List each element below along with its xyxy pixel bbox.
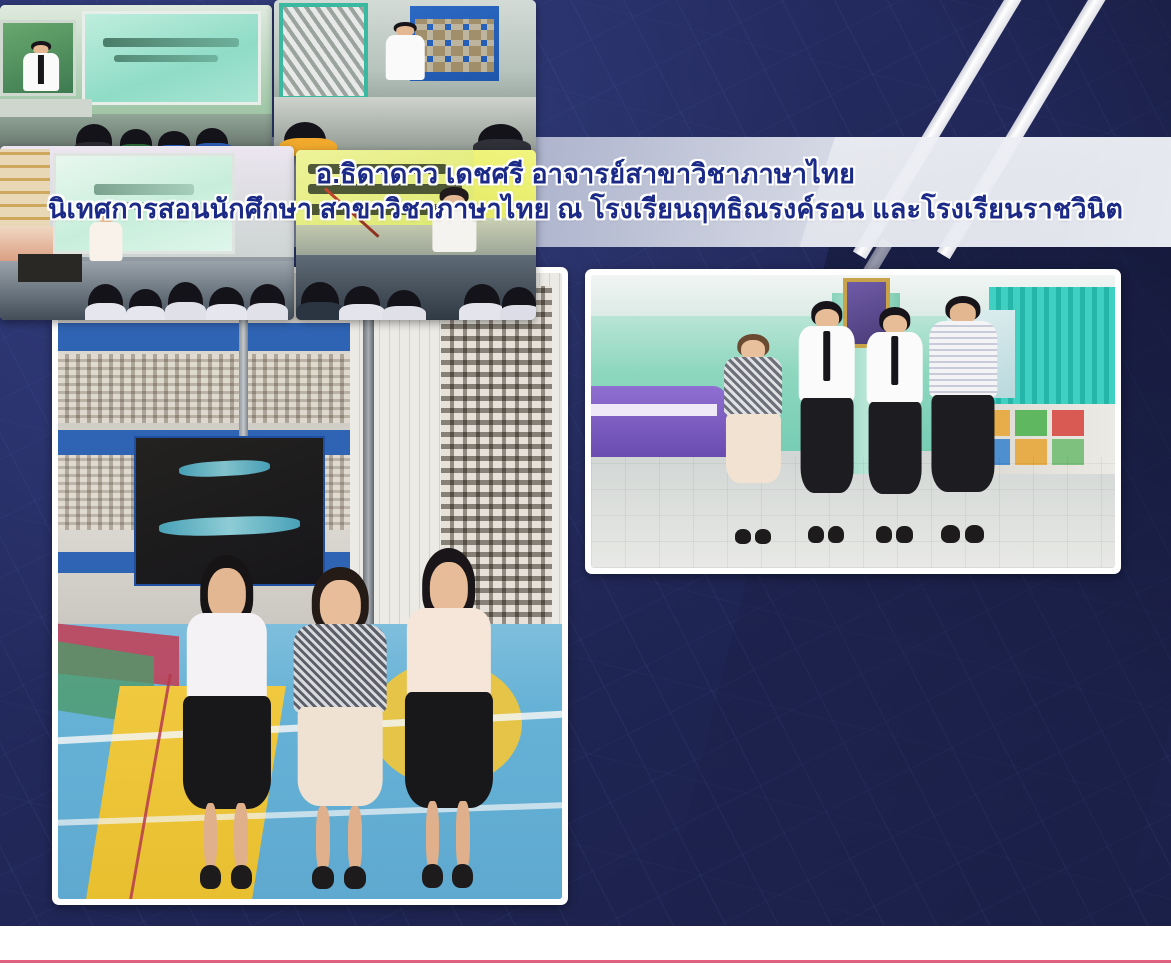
- activity-poster: อ.ธิดาดาว เดชศรี อาจารย์สาขาวิชาภาษาไทย …: [0, 0, 1171, 965]
- person-student-2: [863, 307, 926, 550]
- person-supervisor: [722, 334, 785, 551]
- scene-library: [591, 275, 1115, 568]
- students-row: [0, 264, 294, 320]
- photo-group-library[interactable]: [585, 269, 1121, 574]
- banner-title-line-2: นิเทศการสอนนักศึกษา สาขาวิชาภาษาไทย ณ โร…: [48, 194, 1123, 226]
- photo-three-women-court[interactable]: [52, 267, 568, 905]
- photo-collage: [0, 0, 1171, 926]
- photo-class-presentation-1[interactable]: [0, 5, 272, 156]
- banner-title-line-1: อ.ธิดาดาว เดชศรี อาจารย์สาขาวิชาภาษาไทย: [316, 159, 855, 191]
- person-host-teacher: [926, 296, 999, 551]
- photo-image: [58, 273, 562, 899]
- photo-class-activity-3[interactable]: [0, 146, 294, 320]
- scene-classroom-microphone: [274, 0, 536, 156]
- person-student-left: [179, 555, 275, 899]
- slide-subtitle-text: [114, 55, 217, 63]
- slide-title-text: [103, 38, 239, 47]
- person-teacher-center: [290, 567, 391, 899]
- scene-schoolyard: [58, 273, 562, 899]
- scene-classroom-slide: [0, 5, 272, 156]
- person-student-1: [795, 301, 858, 550]
- photo-class-microphone-2[interactable]: [274, 0, 536, 156]
- students-row: [296, 266, 536, 320]
- photo-image: [591, 275, 1115, 568]
- scene-classroom-activity: [0, 146, 294, 320]
- students-row: [274, 106, 536, 156]
- person-student-right: [401, 548, 497, 899]
- footer-area: [0, 926, 1171, 962]
- person-student-teacher: [384, 22, 426, 109]
